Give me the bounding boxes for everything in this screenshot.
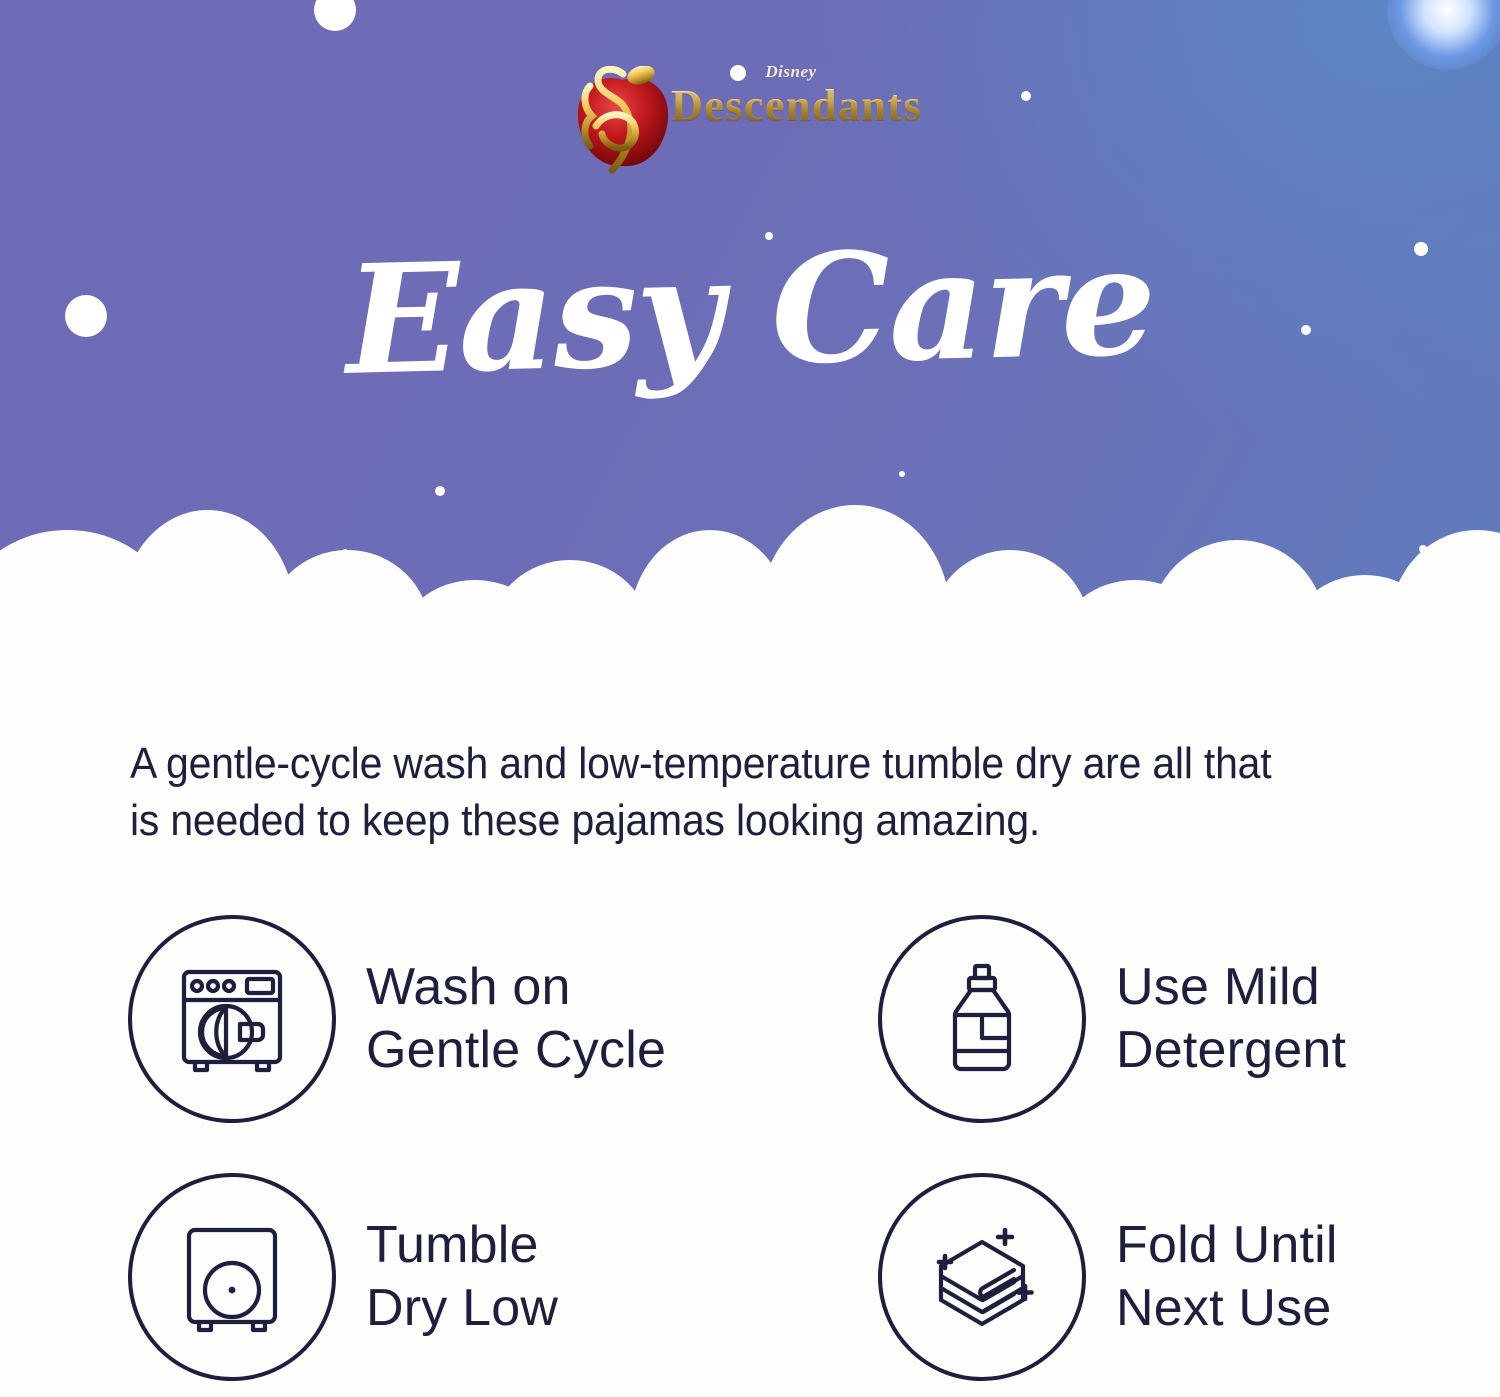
star-dot: [1021, 91, 1031, 101]
washing-machine-icon: [128, 915, 336, 1123]
care-item-label: Fold Until Next Use: [1116, 1214, 1338, 1341]
disney-wordmark: Disney: [741, 62, 841, 82]
cloud-base: [0, 630, 1500, 720]
care-item-label: Use Mild Detergent: [1116, 956, 1346, 1083]
detergent-bottle-icon: [878, 915, 1086, 1123]
descendants-logo: Disney Descendants: [563, 60, 943, 175]
star-dot: [435, 486, 445, 496]
tumble-dryer-icon: [128, 1173, 336, 1381]
care-item-label: Wash on Gentle Cycle: [366, 956, 666, 1083]
cloud-divider: [0, 520, 1500, 720]
care-item-use-mild-detergent: Use Mild Detergent: [878, 915, 1346, 1123]
star-dot: [899, 471, 905, 477]
care-item-fold-until-next-use: Fold Until Next Use: [878, 1173, 1338, 1381]
easy-care-infographic: Disney Descendants Easy Care A gentle-cy…: [0, 0, 1500, 1397]
care-item-label: Tumble Dry Low: [366, 1214, 558, 1341]
care-item-tumble-dry-low: Tumble Dry Low: [128, 1173, 558, 1381]
care-instructions-grid: Wash on Gentle Cycle Use Mild Detergent: [128, 915, 1428, 1395]
intro-paragraph: A gentle-cycle wash and low-temperature …: [130, 735, 1311, 849]
descendants-wordmark: Descendants: [671, 84, 943, 128]
descendants-apple-logo-icon: [568, 66, 678, 174]
care-item-wash-on-gentle-cycle: Wash on Gentle Cycle: [128, 915, 666, 1123]
folded-laundry-icon: [878, 1173, 1086, 1381]
